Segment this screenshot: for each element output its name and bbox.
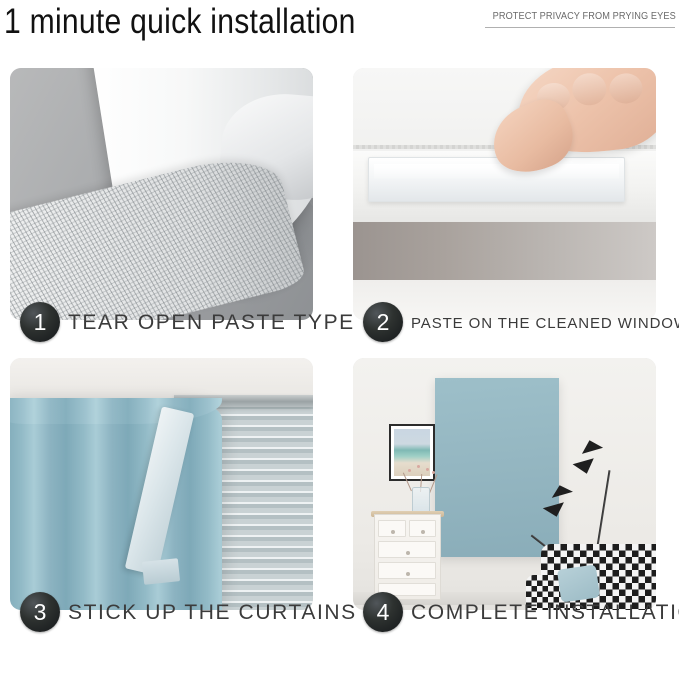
steps-grid: 1 TEAR OPEN PASTE TYPE	[0, 60, 679, 684]
drawer-knob	[421, 530, 425, 534]
step-3-caption-row: 3 STICK UP THE CURTAINS	[10, 592, 313, 644]
knuckle	[608, 72, 644, 105]
tagline-divider	[485, 27, 675, 28]
tagline-block: PROTECT PRIVACY FROM PRYING EYES	[485, 11, 675, 28]
step-1-caption-row: 1 TEAR OPEN PASTE TYPE	[10, 302, 313, 354]
velcro-strip-end	[142, 558, 181, 584]
dresser-drawer	[378, 520, 405, 537]
window-sill	[353, 222, 656, 280]
step-card-2: 2 PASTE ON THE CLEANED WINDOW FRAME	[353, 68, 656, 360]
step-caption-3: STICK UP THE CURTAINS	[68, 600, 357, 626]
step-card-3: 3 STICK UP THE CURTAINS	[10, 358, 313, 650]
step-caption-1: TEAR OPEN PASTE TYPE	[68, 310, 355, 336]
step-caption-2: PASTE ON THE CLEANED WINDOW FRAME	[411, 310, 679, 336]
step-card-4: 4 COMPLETE INSTALLATION	[353, 358, 656, 650]
step-2-caption-row: 2 PASTE ON THE CLEANED WINDOW FRAME	[353, 302, 656, 354]
step-4-caption-row: 4 COMPLETE INSTALLATION	[353, 592, 656, 644]
flower-bud	[417, 465, 420, 468]
step-2-photo	[353, 68, 656, 320]
dresser-drawer	[378, 562, 436, 579]
tagline-text: PROTECT PRIVACY FROM PRYING EYES	[493, 11, 668, 22]
knuckle	[571, 72, 607, 107]
step-card-1: 1 TEAR OPEN PASTE TYPE	[10, 68, 313, 360]
step-1-photo	[10, 68, 313, 320]
header: 1 minute quick installation PROTECT PRIV…	[0, 0, 679, 60]
installed-blackout-curtain	[435, 378, 559, 557]
drawer-knob	[391, 530, 395, 534]
white-dresser	[374, 514, 441, 600]
step-badge-2: 2	[363, 302, 403, 342]
step-badge-3: 3	[20, 592, 60, 632]
coastal-artwork	[394, 429, 429, 477]
dresser-drawer	[409, 520, 436, 537]
hand	[492, 68, 656, 189]
page-title: 1 minute quick installation	[4, 2, 356, 42]
flower-bud	[426, 468, 429, 471]
step-3-photo	[10, 358, 313, 610]
step-caption-4: COMPLETE INSTALLATION	[411, 600, 679, 626]
drawer-knob	[406, 572, 410, 576]
wall-art-frame	[389, 424, 434, 482]
drawer-knob	[406, 551, 410, 555]
dresser-drawer	[378, 541, 436, 558]
step-4-photo	[353, 358, 656, 610]
flower-bud	[408, 469, 411, 472]
step-badge-4: 4	[363, 592, 403, 632]
step-badge-1: 1	[20, 302, 60, 342]
